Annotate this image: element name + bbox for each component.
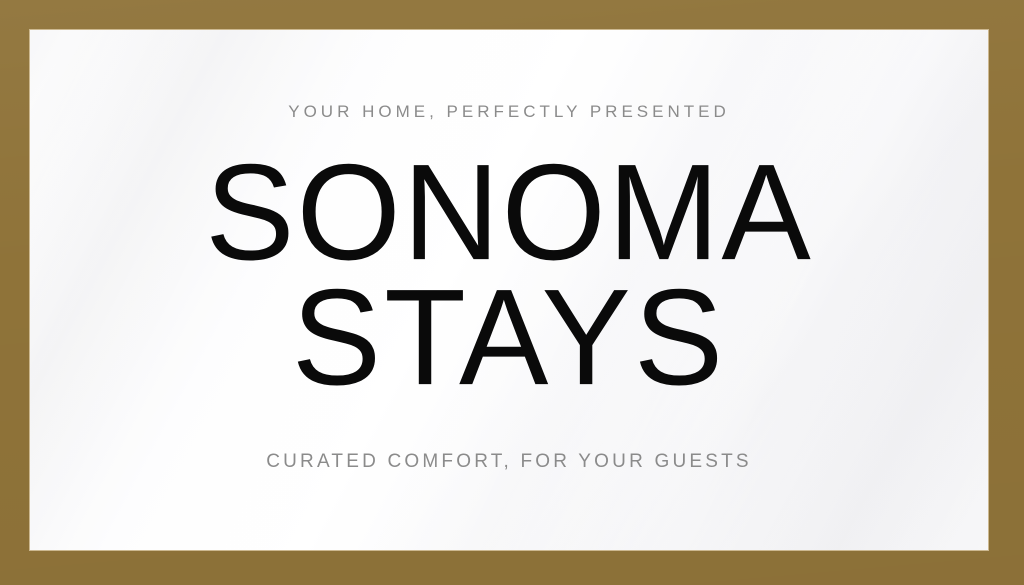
wordmark-line-stays: STAYS (205, 274, 813, 402)
presentation-slide: YOUR HOME, PERFECTLY PRESENTED SONOMA ST… (0, 0, 1024, 585)
white-content-panel: YOUR HOME, PERFECTLY PRESENTED SONOMA ST… (30, 30, 988, 550)
brand-wordmark: SONOMA STAYS (205, 149, 813, 400)
wordmark-line-sonoma: SONOMA (205, 149, 813, 277)
slide-content: YOUR HOME, PERFECTLY PRESENTED SONOMA ST… (30, 30, 988, 550)
tagline-top: YOUR HOME, PERFECTLY PRESENTED (288, 103, 729, 120)
tagline-bottom: CURATED COMFORT, FOR YOUR GUESTS (266, 452, 752, 471)
